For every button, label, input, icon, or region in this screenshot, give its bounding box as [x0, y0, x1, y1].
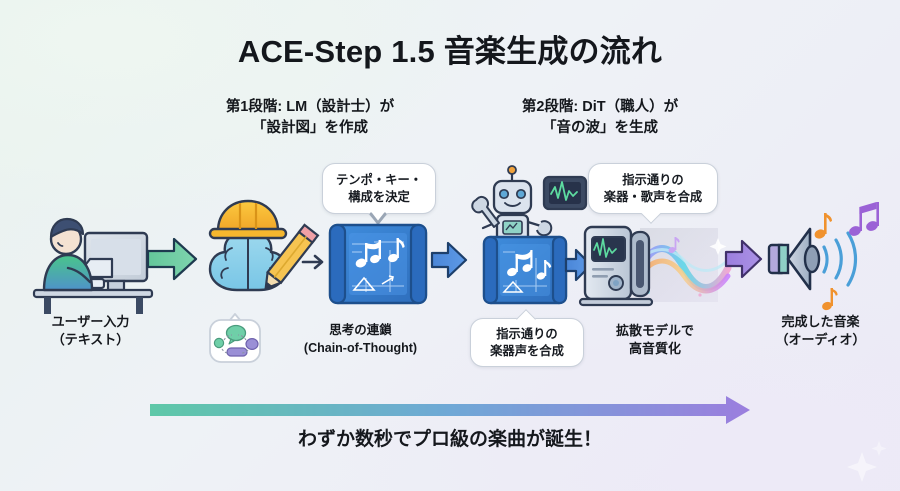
label-chain-of-thought-line2: (Chain-of-Thought) [268, 340, 453, 358]
synth-waveform-machine-icon [580, 227, 728, 305]
label-final-audio: 完成した音楽 （オーディオ） [738, 313, 900, 350]
right-arrow-thin-dark-icon [303, 256, 322, 268]
speaker-with-notes-icon [769, 202, 879, 311]
label-final-audio-line1: 完成した音楽 [738, 313, 900, 331]
person-at-computer-icon [34, 219, 152, 314]
label-chain-of-thought-line1: 思考の連鎖 [268, 322, 453, 340]
label-diffusion-line2: 高音質化 [585, 340, 725, 358]
right-arrow-blue-icon-1 [432, 243, 466, 277]
right-arrow-purple-icon [726, 241, 761, 277]
thought-bubble-icon [210, 314, 260, 362]
infographic-canvas: ACE-Step 1.5 音楽生成の流れ 第1段階: LM（設計士）が 「設計図… [0, 0, 900, 491]
illustration-layer [0, 0, 900, 491]
label-diffusion: 拡散モデルで 高音質化 [585, 322, 725, 359]
down-caret-gray-icon [371, 214, 385, 223]
dit-blueprint-panel-icon [484, 237, 566, 303]
brain-with-helmet-icon [210, 201, 318, 294]
right-arrow-green-icon [148, 239, 196, 279]
label-user-input: ユーザー入力 （テキスト） [8, 313, 173, 350]
label-chain-of-thought: 思考の連鎖 (Chain-of-Thought) [268, 322, 453, 358]
blueprint-music-icon [330, 225, 426, 303]
label-diffusion-line1: 拡散モデルで [585, 322, 725, 340]
long-right-arrow-gradient-icon [150, 396, 750, 424]
label-user-input-line2: （テキスト） [8, 331, 173, 349]
banner-text: わずか数秒でプロ級の楽曲が誕生！ [0, 424, 900, 451]
label-final-audio-line2: （オーディオ） [738, 331, 900, 349]
label-user-input-line1: ユーザー入力 [8, 313, 173, 331]
